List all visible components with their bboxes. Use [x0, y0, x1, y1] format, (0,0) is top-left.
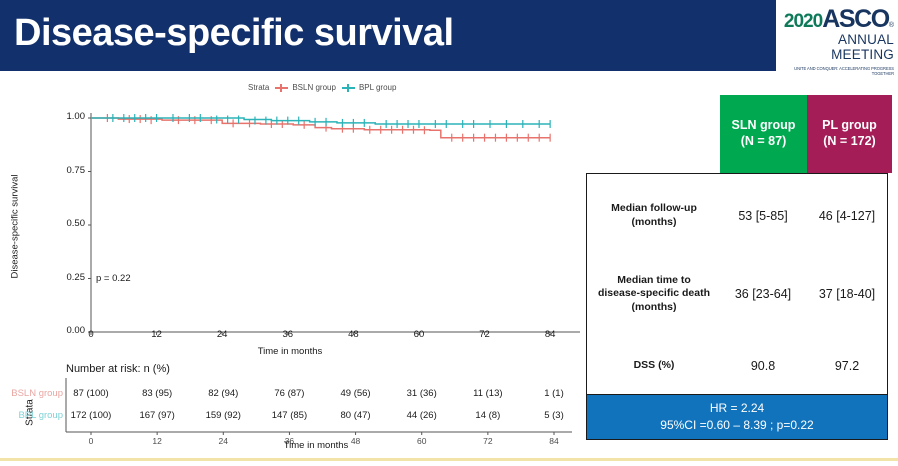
summary-table: SLN group (N = 87) PL group (N = 172) Me…	[586, 95, 892, 440]
logo-year: 2020	[784, 12, 822, 31]
logo-subtitle: ANNUAL MEETING	[780, 33, 894, 63]
hr-value: HR = 2.24	[710, 400, 764, 417]
pl-group-n: (N = 172)	[823, 134, 875, 150]
risk-cell: 76 (87)	[259, 388, 319, 399]
x-tick-label: 0	[76, 329, 106, 340]
bottom-accent-rule	[0, 458, 898, 461]
page-title: Disease-specific survival	[14, 12, 454, 55]
title-bar: Disease-specific survival	[0, 0, 776, 71]
p-value-annotation: p = 0.22	[96, 273, 131, 284]
risk-cell: 167 (97)	[127, 410, 187, 421]
risk-cell: 49 (56)	[326, 388, 386, 399]
cell-dss-sln: 90.8	[721, 359, 805, 373]
x-axis-label: Time in months	[0, 346, 580, 357]
row-label-dss: DSS (%)	[587, 359, 721, 373]
cell-median-followup-sln: 53 [5-85]	[721, 209, 805, 223]
x-tick-label: 72	[470, 329, 500, 340]
x-tick-label: 36	[273, 329, 303, 340]
number-at-risk-table: Number at risk: n (%) Strata BSLN group8…	[0, 360, 580, 466]
risk-x-axis-label: Time in months	[66, 440, 566, 451]
risk-cell: 147 (85)	[259, 410, 319, 421]
table-row: Median time to disease-specific death (m…	[587, 264, 889, 324]
table-row: DSS (%) 90.8 97.2	[587, 346, 889, 386]
asco-logo: 2020ASCO® ANNUAL MEETING UNITE AND CONQU…	[776, 0, 898, 71]
risk-cell: 159 (92)	[193, 410, 253, 421]
x-tick-label: 60	[404, 329, 434, 340]
km-curve	[91, 118, 550, 138]
cell-median-time-death-pl: 37 [18-40]	[805, 287, 889, 301]
row-label-median-time-death: Median time to disease-specific death (m…	[587, 274, 721, 315]
sln-group-name: SLN group	[732, 118, 796, 134]
risk-row-label: BSLN group	[0, 388, 63, 399]
risk-cell: 83 (95)	[127, 388, 187, 399]
row-label-median-followup: Median follow-up (months)	[587, 202, 721, 229]
risk-cell: 31 (36)	[392, 388, 452, 399]
summary-col-header-sln: SLN group (N = 87)	[720, 95, 807, 173]
hazard-ratio-footer: HR = 2.24 95%CI =0.60 – 8.39 ; p=0.22	[586, 395, 888, 440]
cell-median-time-death-sln: 36 [23-64]	[721, 287, 805, 301]
risk-cell: 14 (8)	[458, 410, 518, 421]
x-tick-label: 24	[207, 329, 237, 340]
risk-cell: 5 (3)	[524, 410, 584, 421]
hr-ci-pvalue: 95%CI =0.60 – 8.39 ; p=0.22	[660, 417, 813, 434]
slide: Disease-specific survival 2020ASCO® ANNU…	[0, 0, 898, 466]
sln-group-n: (N = 87)	[741, 134, 787, 150]
cell-median-followup-pl: 46 [4-127]	[805, 209, 889, 223]
x-tick-label: 48	[338, 329, 368, 340]
x-tick-label: 84	[535, 329, 565, 340]
risk-cell: 172 (100)	[61, 410, 121, 421]
risk-row-label: BPL group	[0, 410, 63, 421]
summary-body: Median follow-up (months) 53 [5-85] 46 […	[586, 173, 888, 395]
risk-cell: 82 (94)	[193, 388, 253, 399]
table-row: Median follow-up (months) 53 [5-85] 46 […	[587, 186, 889, 246]
risk-cell: 80 (47)	[326, 410, 386, 421]
risk-cell: 11 (13)	[458, 388, 518, 399]
risk-cell: 87 (100)	[61, 388, 121, 399]
cell-dss-pl: 97.2	[805, 359, 889, 373]
logo-asco-wordmark: ASCO	[822, 7, 889, 32]
risk-cell: 1 (1)	[524, 388, 584, 399]
summary-header-row: SLN group (N = 87) PL group (N = 172)	[586, 95, 892, 173]
summary-col-header-pl: PL group (N = 172)	[807, 95, 892, 173]
pl-group-name: PL group	[822, 118, 877, 134]
risk-cell: 44 (26)	[392, 410, 452, 421]
logo-tagline: UNITE AND CONQUER: ACCELERATING PROGRESS…	[780, 66, 894, 76]
registered-trademark-icon: ®	[889, 22, 894, 29]
x-tick-label: 12	[142, 329, 172, 340]
